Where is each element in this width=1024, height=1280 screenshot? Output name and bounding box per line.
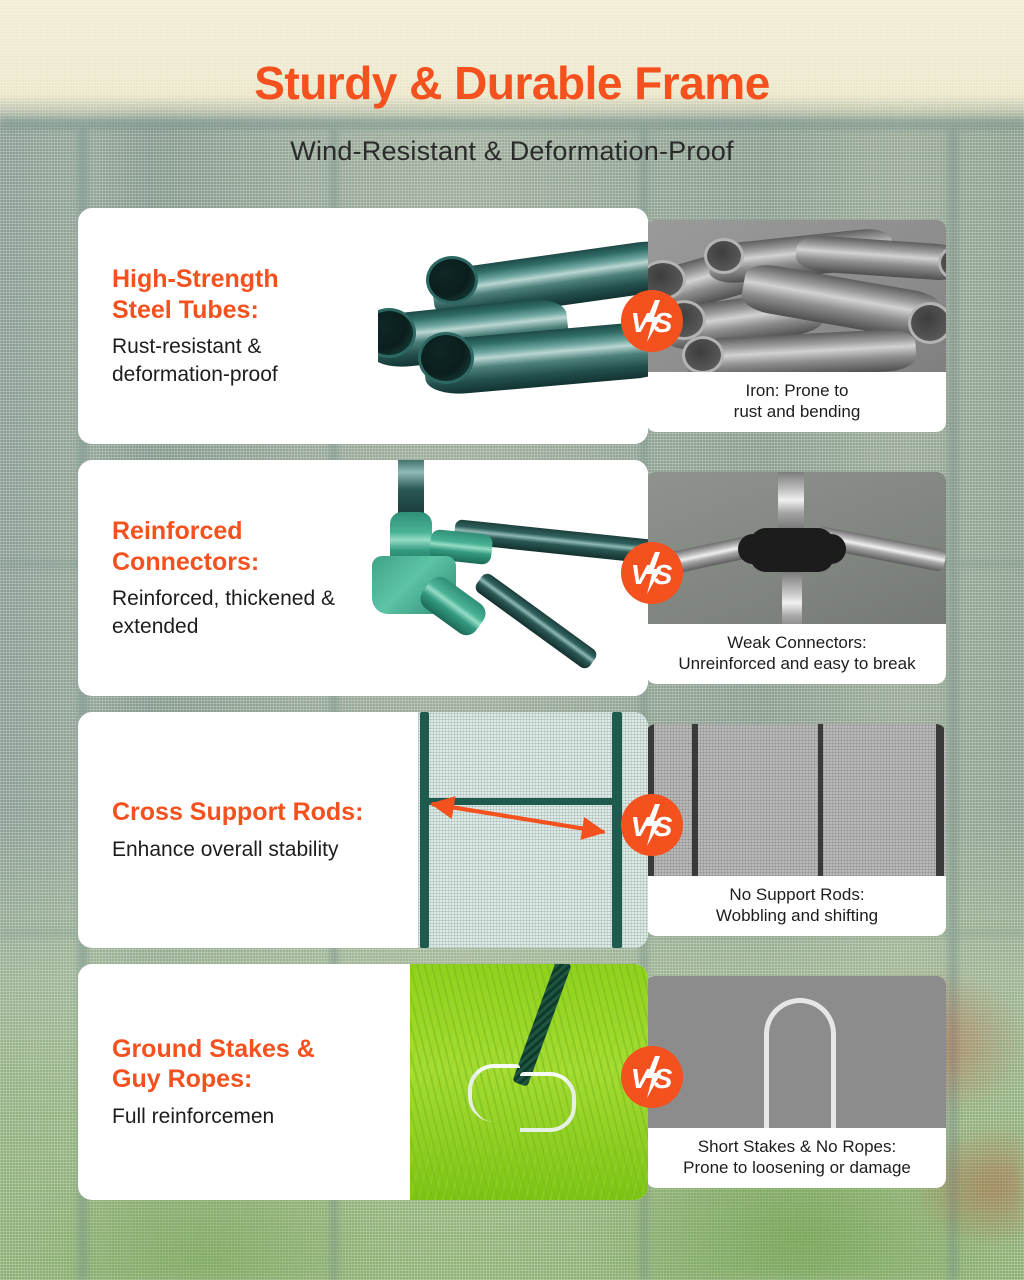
- svg-text:V: V: [631, 307, 652, 338]
- comparison-caption: Weak Connectors: Unreinforced and easy t…: [646, 624, 946, 685]
- feature-row-connectors: Weak Connectors: Unreinforced and easy t…: [78, 460, 946, 696]
- comparison-caption-line-1: Short Stakes & No Ropes:: [698, 1137, 896, 1156]
- feature-text-block: High-Strength Steel Tubes: Rust-resistan…: [112, 208, 412, 444]
- svg-text:V: V: [631, 811, 652, 842]
- mesh-panel-with-cross-rod-photo: [418, 712, 648, 948]
- feature-title: High-Strength Steel Tubes:: [112, 264, 412, 325]
- green-connector-photo: [358, 460, 648, 696]
- vs-badge: V S: [621, 794, 683, 856]
- feature-title-line-2: Guy Ropes:: [112, 1065, 252, 1093]
- comparison-caption: No Support Rods: Wobbling and shifting: [646, 876, 946, 937]
- feature-body-line-1: Reinforced, thickened &: [112, 587, 335, 610]
- page-title: Sturdy & Durable Frame: [0, 56, 1024, 110]
- feature-body-line-2: deformation-proof: [112, 363, 278, 386]
- comparison-panel-weak-connector: Weak Connectors: Unreinforced and easy t…: [646, 472, 946, 684]
- feature-title: Ground Stakes & Guy Ropes:: [112, 1034, 412, 1095]
- cross-rod-arrow-annotation: [418, 712, 648, 948]
- feature-body-line-1: Enhance overall stability: [112, 838, 338, 861]
- feature-title-line-2: Steel Tubes:: [112, 296, 259, 324]
- vs-lightning-icon: V S: [621, 542, 683, 604]
- feature-card-ground-stakes: Ground Stakes & Guy Ropes: Full reinforc…: [78, 964, 648, 1200]
- vs-badge: V S: [621, 1046, 683, 1108]
- feature-card-steel-tubes: High-Strength Steel Tubes: Rust-resistan…: [78, 208, 648, 444]
- header: Sturdy & Durable Frame Wind-Resistant & …: [0, 0, 1024, 167]
- comparison-caption-line-1: Weak Connectors:: [727, 633, 867, 652]
- feature-body: Rust-resistant & deformation-proof: [112, 333, 412, 388]
- feature-title-line-1: Reinforced: [112, 517, 243, 545]
- feature-text-block: Cross Support Rods: Enhance overall stab…: [112, 712, 442, 948]
- feature-body-line-1: Full reinforcemen: [112, 1105, 274, 1128]
- comparison-panel-short-stakes: Short Stakes & No Ropes: Prone to loosen…: [646, 976, 946, 1188]
- comparison-panel-iron-pipes: Iron: Prone to rust and bending: [646, 220, 946, 432]
- svg-text:V: V: [631, 1063, 652, 1094]
- feature-row-ground-stakes: Short Stakes & No Ropes: Prone to loosen…: [78, 964, 946, 1200]
- feature-title-line-2: Connectors:: [112, 548, 259, 576]
- feature-title: Cross Support Rods:: [112, 797, 442, 828]
- comparison-caption: Iron: Prone to rust and bending: [646, 372, 946, 433]
- comparison-caption-line-2: Unreinforced and easy to break: [656, 653, 938, 674]
- vs-lightning-icon: V S: [621, 794, 683, 856]
- comparison-caption-line-2: Wobbling and shifting: [656, 905, 938, 926]
- svg-text:V: V: [631, 559, 652, 590]
- vs-lightning-icon: V S: [621, 290, 683, 352]
- comparison-caption-line-2: rust and bending: [656, 401, 938, 422]
- comparison-panel-no-support-rods: No Support Rods: Wobbling and shifting: [646, 724, 946, 936]
- feature-card-cross-support-rods: Cross Support Rods: Enhance overall stab…: [78, 712, 648, 948]
- comparison-caption-line-1: No Support Rods:: [729, 885, 864, 904]
- feature-body: Full reinforcemen: [112, 1103, 412, 1130]
- feature-row-cross-support-rods: No Support Rods: Wobbling and shifting C…: [78, 712, 946, 948]
- feature-body-line-1: Rust-resistant &: [112, 335, 261, 358]
- comparison-caption-line-1: Iron: Prone to: [745, 381, 848, 400]
- feature-body-line-2: extended: [112, 615, 198, 638]
- feature-body: Enhance overall stability: [112, 836, 442, 863]
- ground-stake-rope-in-grass-photo: [410, 964, 648, 1200]
- vs-badge: V S: [621, 290, 683, 352]
- vs-badge: V S: [621, 542, 683, 604]
- comparison-caption: Short Stakes & No Ropes: Prone to loosen…: [646, 1128, 946, 1189]
- comparison-caption-line-2: Prone to loosening or damage: [656, 1157, 938, 1178]
- feature-title-line-1: High-Strength: [112, 265, 279, 293]
- feature-text-block: Ground Stakes & Guy Ropes: Full reinforc…: [112, 964, 412, 1200]
- vs-lightning-icon: V S: [621, 1046, 683, 1108]
- feature-row-steel-tubes: Iron: Prone to rust and bending High-Str…: [78, 208, 946, 444]
- page-subtitle: Wind-Resistant & Deformation-Proof: [0, 136, 1024, 167]
- feature-card-connectors: Reinforced Connectors: Reinforced, thick…: [78, 460, 648, 696]
- feature-title-line-1: Ground Stakes &: [112, 1035, 315, 1063]
- feature-title-line-1: Cross Support Rods:: [112, 798, 363, 826]
- steel-tubes-photo: [378, 208, 648, 444]
